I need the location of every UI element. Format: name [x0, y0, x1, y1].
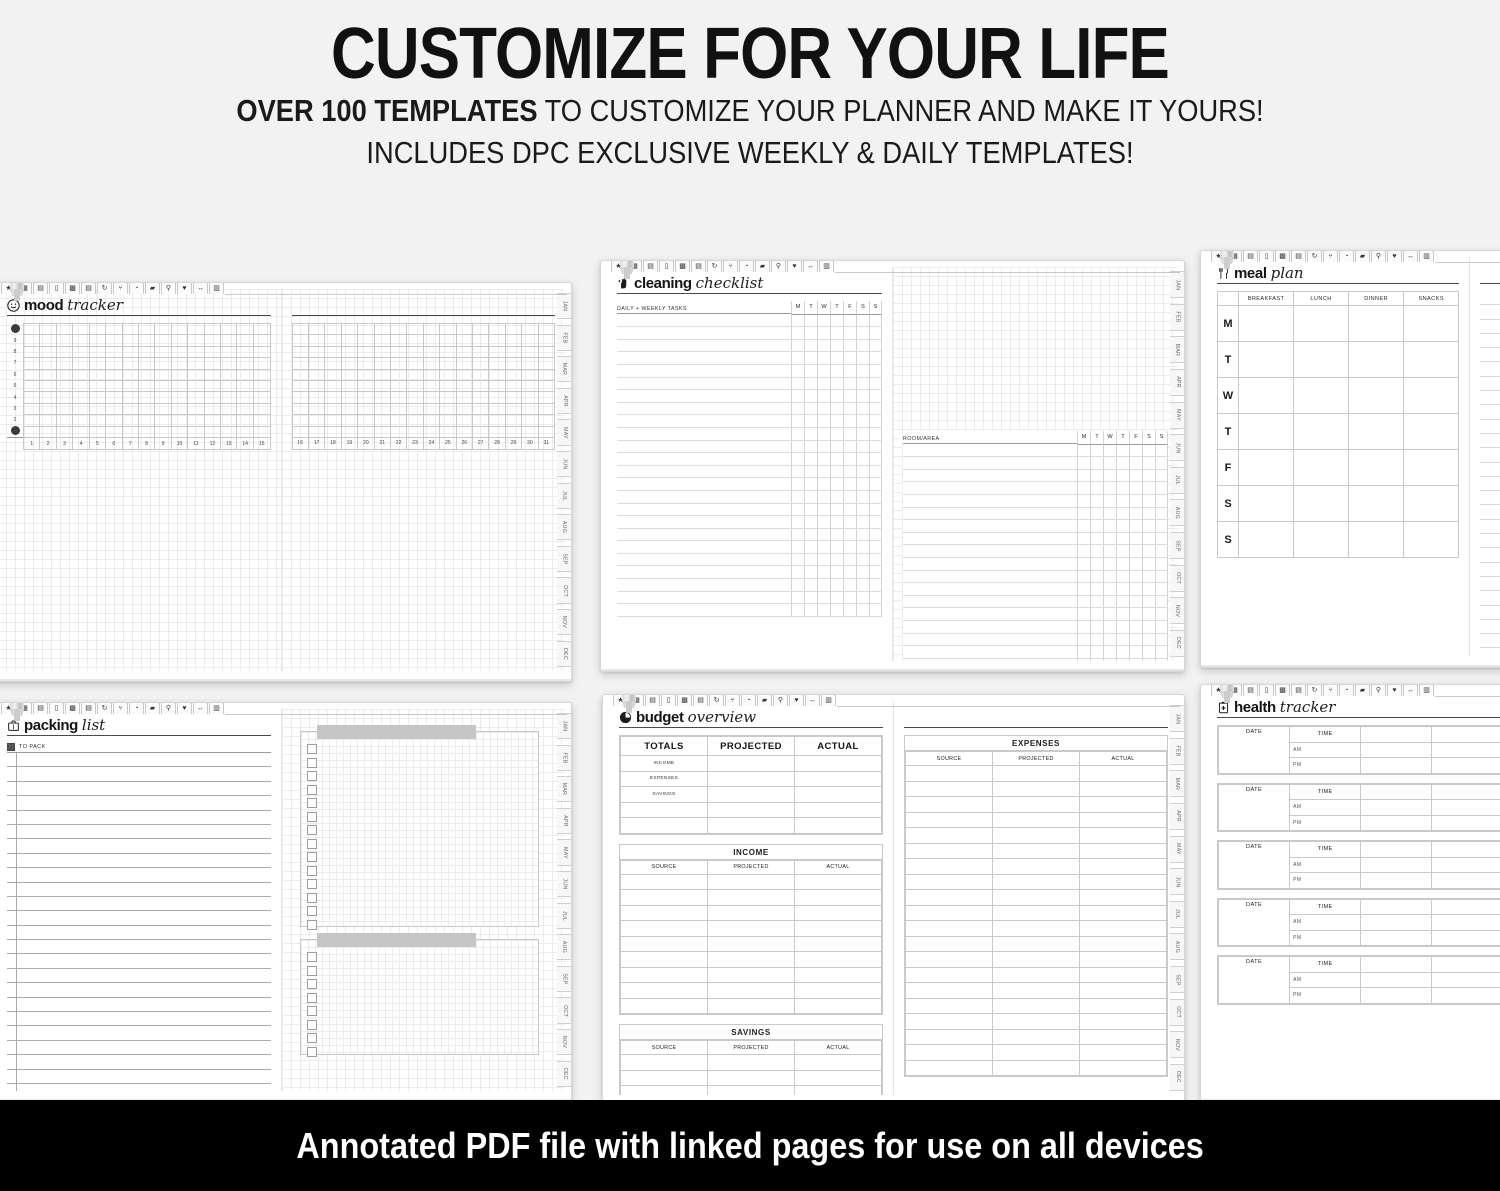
check-cell[interactable]	[791, 541, 804, 554]
table-row[interactable]	[617, 504, 882, 517]
arrows-icon[interactable]: ↔	[803, 260, 818, 272]
table-row[interactable]	[906, 936, 1167, 952]
cell-projected[interactable]	[993, 812, 1080, 828]
check-cell[interactable]	[1116, 533, 1129, 546]
note-line[interactable]	[1480, 391, 1500, 405]
check-cell[interactable]	[804, 441, 817, 454]
utensils-icon[interactable]: ⑂	[1323, 684, 1338, 696]
check-cell[interactable]	[1077, 558, 1090, 571]
check-cell[interactable]	[1103, 571, 1116, 584]
check-cell[interactable]	[1142, 608, 1155, 621]
check-cell[interactable]	[1155, 545, 1168, 558]
check-cell[interactable]	[856, 327, 869, 340]
table-row[interactable]	[617, 516, 882, 529]
pin-icon[interactable]: ⚲	[773, 694, 788, 706]
check-cell[interactable]	[1116, 545, 1129, 558]
cell[interactable]	[1361, 800, 1432, 816]
check-cell[interactable]	[1155, 495, 1168, 508]
table-row[interactable]	[617, 415, 882, 428]
month-tab-dec[interactable]: DEC	[557, 641, 572, 667]
check-cell[interactable]	[1077, 470, 1090, 483]
cell-source[interactable]	[906, 936, 993, 952]
task-line[interactable]	[617, 516, 791, 529]
check-cell[interactable]	[817, 592, 830, 605]
cell-projected[interactable]	[993, 998, 1080, 1014]
cell-actual[interactable]	[795, 890, 882, 906]
arrows-icon[interactable]: ↔	[193, 282, 208, 294]
planner-meal-plan[interactable]: ★ ▦ ▤ ▯ ▩ ▤ ↻ ⑂ ◔ ▰ ⚲ ♥ ↔ ▥	[1200, 250, 1500, 668]
check-cell[interactable]	[791, 554, 804, 567]
check-cell[interactable]	[804, 378, 817, 391]
list-item[interactable]	[7, 1070, 271, 1084]
check-cell[interactable]	[1116, 659, 1129, 661]
table-icon[interactable]: ▤	[1291, 684, 1306, 696]
table-row[interactable]	[906, 905, 1167, 921]
check-cell[interactable]	[1103, 634, 1116, 647]
check-cell[interactable]	[1129, 495, 1142, 508]
task-line[interactable]	[903, 482, 1077, 495]
check-cell[interactable]	[804, 529, 817, 542]
check-cell[interactable]	[1142, 520, 1155, 533]
month-tab-jun[interactable]: JUN	[557, 451, 572, 477]
list-item[interactable]	[7, 1084, 271, 1091]
check-cell[interactable]	[856, 541, 869, 554]
cell-projected[interactable]	[708, 1070, 795, 1086]
check-cell[interactable]	[817, 478, 830, 491]
checkbox[interactable]	[307, 771, 317, 781]
task-line[interactable]	[617, 327, 791, 340]
cell-projected[interactable]	[993, 797, 1080, 813]
grid-icon[interactable]: ▩	[677, 694, 692, 706]
clock-icon[interactable]: ◔	[1339, 250, 1354, 262]
month-tab-may[interactable]: MAY	[1170, 402, 1185, 429]
check-cell[interactable]	[817, 378, 830, 391]
check-cell[interactable]	[817, 441, 830, 454]
cell-projected[interactable]	[708, 921, 795, 937]
cell-projected[interactable]	[708, 936, 795, 952]
task-line[interactable]	[617, 541, 791, 554]
task-line[interactable]	[903, 545, 1077, 558]
cell-projected[interactable]	[993, 983, 1080, 999]
check-cell[interactable]	[1090, 508, 1103, 521]
month-tab-jan[interactable]: JAN	[1170, 705, 1185, 732]
table-row[interactable]	[906, 921, 1167, 937]
check-cell[interactable]	[817, 428, 830, 441]
clock-icon[interactable]: ◔	[1339, 684, 1354, 696]
packing-box-1[interactable]	[300, 731, 540, 927]
table-row[interactable]	[617, 554, 882, 567]
check-cell[interactable]	[1116, 646, 1129, 659]
col-blank-2[interactable]	[1432, 727, 1500, 743]
month-tab-oct[interactable]: OCT	[557, 577, 572, 603]
check-cell[interactable]	[856, 340, 869, 353]
table-row[interactable]	[906, 843, 1167, 859]
check-cell[interactable]	[1077, 495, 1090, 508]
table-row[interactable]	[903, 583, 1168, 596]
heart-icon[interactable]: ♥	[177, 702, 192, 714]
check-cell[interactable]	[830, 566, 843, 579]
month-tab-aug[interactable]: AUG	[1170, 499, 1185, 526]
check-cell[interactable]	[817, 466, 830, 479]
check-cell[interactable]	[1116, 621, 1129, 634]
table-icon[interactable]: ▤	[691, 260, 706, 272]
list-item[interactable]	[7, 782, 271, 796]
cell-source[interactable]	[906, 1029, 993, 1045]
check-cell[interactable]	[856, 428, 869, 441]
note-line[interactable]	[1480, 362, 1500, 376]
month-tab-sep[interactable]: SEP	[557, 546, 572, 572]
table-row[interactable]	[906, 781, 1167, 797]
list-icon[interactable]: ▤	[1243, 250, 1258, 262]
cell-actual[interactable]	[1080, 766, 1167, 782]
table-row[interactable]	[621, 890, 882, 906]
list-item[interactable]	[7, 969, 271, 983]
check-cell[interactable]	[1090, 445, 1103, 458]
checkbox[interactable]	[307, 825, 317, 835]
month-tab-apr[interactable]: APR	[557, 808, 572, 834]
month-tab-feb[interactable]: FEB	[1170, 738, 1185, 765]
check-cell[interactable]	[856, 529, 869, 542]
table-row[interactable]	[906, 983, 1167, 999]
task-line[interactable]	[617, 340, 791, 353]
check-cell[interactable]	[1103, 621, 1116, 634]
table-row[interactable]	[621, 921, 882, 937]
task-line[interactable]	[617, 441, 791, 454]
month-tab-oct[interactable]: OCT	[557, 997, 572, 1023]
table-row[interactable]	[617, 315, 882, 328]
month-tab-mar[interactable]: MAR	[1170, 336, 1185, 363]
check-cell[interactable]	[856, 315, 869, 328]
table-row[interactable]	[617, 466, 882, 479]
col-date[interactable]: DATE	[1219, 784, 1290, 831]
task-line[interactable]	[617, 529, 791, 542]
month-tab-aug[interactable]: AUG	[557, 934, 572, 960]
health-entry-table[interactable]: DATETIMENOTESAMPM	[1218, 841, 1500, 889]
month-tab-may[interactable]: MAY	[1170, 836, 1185, 863]
table-row[interactable]	[903, 482, 1168, 495]
check-cell[interactable]	[1116, 596, 1129, 609]
check-cell[interactable]	[817, 365, 830, 378]
task-line[interactable]	[617, 579, 791, 592]
cell-actual[interactable]	[795, 952, 882, 968]
cell-actual[interactable]	[1080, 936, 1167, 952]
refresh-icon[interactable]: ↻	[707, 260, 722, 272]
folder-icon[interactable]: ▰	[1355, 250, 1370, 262]
check-cell[interactable]	[856, 441, 869, 454]
cell-projected[interactable]	[708, 905, 795, 921]
cell-projected[interactable]	[993, 936, 1080, 952]
table-row[interactable]	[617, 365, 882, 378]
cell-source[interactable]	[906, 905, 993, 921]
bookmark-icon[interactable]: ▯	[49, 282, 64, 294]
check-cell[interactable]	[1142, 545, 1155, 558]
task-line[interactable]	[903, 508, 1077, 521]
check-cell[interactable]	[830, 554, 843, 567]
cell[interactable]	[1432, 873, 1500, 889]
check-cell[interactable]	[1155, 508, 1168, 521]
folder-icon[interactable]: ▰	[757, 694, 772, 706]
check-cell[interactable]	[1077, 533, 1090, 546]
checkbox-column[interactable]	[301, 732, 539, 938]
check-cell[interactable]	[843, 327, 856, 340]
check-cell[interactable]	[791, 390, 804, 403]
list-icon[interactable]: ▤	[643, 260, 658, 272]
check-cell[interactable]	[856, 403, 869, 416]
check-cell[interactable]	[1077, 457, 1090, 470]
list-item[interactable]	[7, 1055, 271, 1069]
check-cell[interactable]	[1129, 583, 1142, 596]
check-cell[interactable]	[1155, 457, 1168, 470]
check-cell[interactable]	[830, 504, 843, 517]
cell-source[interactable]	[621, 921, 708, 937]
table-row[interactable]	[617, 390, 882, 403]
check-cell[interactable]	[1103, 545, 1116, 558]
grid-icon[interactable]: ▩	[1275, 684, 1290, 696]
check-cell[interactable]	[1090, 457, 1103, 470]
clock-icon[interactable]: ◔	[741, 694, 756, 706]
check-cell[interactable]	[856, 352, 869, 365]
check-cell[interactable]	[804, 478, 817, 491]
table-row[interactable]	[621, 905, 882, 921]
table-icon[interactable]: ▤	[81, 282, 96, 294]
cell-projected[interactable]	[708, 998, 795, 1014]
bookmark-icon[interactable]: ▯	[659, 260, 674, 272]
checkbox[interactable]	[307, 920, 317, 930]
month-tab-feb[interactable]: FEB	[1170, 304, 1185, 331]
check-cell[interactable]	[830, 428, 843, 441]
check-cell[interactable]	[830, 516, 843, 529]
list-item[interactable]	[7, 954, 271, 968]
table-row[interactable]	[903, 621, 1168, 634]
check-cell[interactable]	[817, 340, 830, 353]
cell-source[interactable]	[621, 1055, 708, 1071]
task-line[interactable]	[903, 558, 1077, 571]
check-cell[interactable]	[856, 604, 869, 617]
cell-source[interactable]	[906, 890, 993, 906]
note-line[interactable]	[1480, 620, 1500, 634]
note-line[interactable]	[1480, 348, 1500, 362]
check-cell[interactable]	[1116, 608, 1129, 621]
note-line[interactable]	[1480, 420, 1500, 434]
check-cell[interactable]	[830, 327, 843, 340]
check-cell[interactable]	[830, 466, 843, 479]
check-cell[interactable]	[804, 403, 817, 416]
cell-source[interactable]	[621, 998, 708, 1014]
check-cell[interactable]	[791, 516, 804, 529]
check-cell[interactable]	[856, 491, 869, 504]
cell-source[interactable]	[621, 1086, 708, 1096]
table-row[interactable]	[621, 983, 882, 999]
list-item[interactable]	[7, 983, 271, 997]
check-cell[interactable]	[804, 428, 817, 441]
month-tab-mar[interactable]: MAR	[557, 776, 572, 802]
check-cell[interactable]	[843, 516, 856, 529]
month-tab-mar[interactable]: MAR	[557, 356, 572, 382]
check-cell[interactable]	[1155, 608, 1168, 621]
list-item[interactable]	[7, 854, 271, 868]
table-row[interactable]	[617, 566, 882, 579]
savings-table[interactable]: SOURCE PROJECTED ACTUAL	[620, 1040, 882, 1095]
table-row[interactable]	[617, 378, 882, 391]
list-item[interactable]	[7, 1041, 271, 1055]
check-cell[interactable]	[1077, 634, 1090, 647]
check-cell[interactable]	[804, 491, 817, 504]
pin-icon[interactable]: ⚲	[161, 702, 176, 714]
month-tabs[interactable]: JAN FEB MAR APR MAY JUN JUL AUG SEP OCT …	[557, 713, 572, 1087]
check-cell[interactable]	[830, 365, 843, 378]
check-cell[interactable]	[1103, 445, 1116, 458]
budget-totals-section[interactable]: TOTALS PROJECTED ACTUAL INCOME EXPENSES …	[619, 735, 883, 835]
table-icon[interactable]: ▤	[693, 694, 708, 706]
cell-actual[interactable]	[1080, 828, 1167, 844]
check-cell[interactable]	[791, 566, 804, 579]
check-cell[interactable]	[1077, 571, 1090, 584]
table-row[interactable]	[617, 529, 882, 542]
cell-projected[interactable]	[708, 983, 795, 999]
check-cell[interactable]	[1090, 495, 1103, 508]
check-cell[interactable]	[830, 579, 843, 592]
table-row[interactable]	[906, 1060, 1167, 1076]
cell-source[interactable]	[906, 812, 993, 828]
cell-source[interactable]	[906, 874, 993, 890]
cell-source[interactable]	[906, 797, 993, 813]
task-line[interactable]	[903, 533, 1077, 546]
check-cell[interactable]	[1155, 596, 1168, 609]
check-cell[interactable]	[1129, 659, 1142, 661]
utensils-icon[interactable]: ⑂	[725, 694, 740, 706]
health-entry-section[interactable]: DATETIMENOTESAMPM	[1217, 783, 1500, 833]
task-line[interactable]	[617, 604, 791, 617]
cell[interactable]	[1432, 758, 1500, 774]
book-icon[interactable]: ▥	[821, 694, 836, 706]
check-cell[interactable]	[1077, 508, 1090, 521]
arrows-icon[interactable]: ↔	[193, 702, 208, 714]
check-cell[interactable]	[1142, 583, 1155, 596]
task-line[interactable]	[617, 466, 791, 479]
col-blank-2[interactable]	[1432, 957, 1500, 973]
health-sections[interactable]: DATETIMENOTESAMPMDATETIMENOTESAMPMDATETI…	[1217, 725, 1500, 1005]
task-line[interactable]	[617, 378, 791, 391]
check-cell[interactable]	[869, 554, 882, 567]
checkbox[interactable]	[307, 906, 317, 916]
table-row[interactable]	[617, 604, 882, 617]
check-cell[interactable]	[791, 579, 804, 592]
cell[interactable]	[1361, 972, 1432, 988]
check-cell[interactable]	[856, 378, 869, 391]
check-cell[interactable]	[830, 478, 843, 491]
clock-icon[interactable]: ◔	[739, 260, 754, 272]
check-cell[interactable]	[804, 315, 817, 328]
cell-projected[interactable]	[993, 828, 1080, 844]
check-cell[interactable]	[869, 403, 882, 416]
check-cell[interactable]	[1142, 457, 1155, 470]
check-cell[interactable]	[804, 390, 817, 403]
table-row[interactable]	[621, 1070, 882, 1086]
check-cell[interactable]	[843, 554, 856, 567]
month-tab-aug[interactable]: AUG	[557, 514, 572, 540]
check-cell[interactable]	[791, 441, 804, 454]
check-cell[interactable]	[1142, 495, 1155, 508]
check-cell[interactable]	[830, 441, 843, 454]
check-cell[interactable]	[1103, 470, 1116, 483]
list-item[interactable]	[7, 940, 271, 954]
checkbox[interactable]	[307, 758, 317, 768]
month-tab-dec[interactable]: DEC	[557, 1061, 572, 1087]
task-line[interactable]	[617, 415, 791, 428]
check-cell[interactable]	[1090, 608, 1103, 621]
check-cell[interactable]	[830, 592, 843, 605]
check-cell[interactable]	[1090, 470, 1103, 483]
cell[interactable]	[1432, 742, 1500, 758]
check-cell[interactable]	[1142, 558, 1155, 571]
pin-icon[interactable]: ⚲	[771, 260, 786, 272]
check-cell[interactable]	[1077, 646, 1090, 659]
cleaning-task-table[interactable]: DAILY + WEEKLY TASKS M T W T F S S	[617, 301, 882, 617]
check-cell[interactable]	[869, 390, 882, 403]
cell[interactable]	[1432, 815, 1500, 831]
task-line[interactable]	[617, 403, 791, 416]
month-tab-jun[interactable]: JUN	[1170, 868, 1185, 895]
arrows-icon[interactable]: ↔	[805, 694, 820, 706]
table-row[interactable]	[906, 812, 1167, 828]
check-cell[interactable]	[804, 340, 817, 353]
table-row[interactable]	[903, 495, 1168, 508]
month-tab-mar[interactable]: MAR	[1170, 770, 1185, 797]
checkbox[interactable]	[307, 866, 317, 876]
check-cell[interactable]	[1116, 634, 1129, 647]
planner-packing-list[interactable]: ★ ▦ ▤ ▯ ▩ ▤ ↻ ⑂ ◔ ▰ ⚲ ♥ ↔ ▥ JAN FEB MAR …	[0, 702, 572, 1102]
pin-icon[interactable]: ⚲	[1371, 684, 1386, 696]
arrows-icon[interactable]: ↔	[1403, 684, 1418, 696]
note-line[interactable]	[1480, 606, 1500, 620]
month-tab-jul[interactable]: JUL	[1170, 467, 1185, 494]
cell-actual[interactable]	[1080, 1014, 1167, 1030]
cell-actual[interactable]	[795, 905, 882, 921]
table-row[interactable]	[617, 428, 882, 441]
check-cell[interactable]	[1142, 646, 1155, 659]
table-row[interactable]	[617, 327, 882, 340]
task-line[interactable]	[903, 470, 1077, 483]
month-tab-dec[interactable]: DEC	[1170, 630, 1185, 657]
cell-projected[interactable]	[708, 967, 795, 983]
check-cell[interactable]	[817, 566, 830, 579]
budget-savings-section[interactable]: SAVINGS SOURCE PROJECTED ACTUAL	[619, 1024, 883, 1095]
task-line[interactable]	[617, 491, 791, 504]
table-row[interactable]	[621, 998, 882, 1014]
month-tab-dec[interactable]: DEC	[1170, 1064, 1185, 1091]
check-cell[interactable]	[817, 529, 830, 542]
month-tabs[interactable]: JAN FEB MAR APR MAY JUN JUL AUG SEP OCT …	[1170, 705, 1185, 1091]
check-cell[interactable]	[1116, 482, 1129, 495]
checkbox[interactable]	[307, 1006, 317, 1016]
cell-actual[interactable]	[1080, 1060, 1167, 1076]
month-tab-oct[interactable]: OCT	[1170, 565, 1185, 592]
check-cell[interactable]	[1129, 457, 1142, 470]
cell-source[interactable]	[621, 952, 708, 968]
check-cell[interactable]	[843, 428, 856, 441]
check-cell[interactable]	[1116, 558, 1129, 571]
grid-icon[interactable]: ▩	[65, 282, 80, 294]
checkbox[interactable]	[307, 1020, 317, 1030]
checkbox-column[interactable]	[301, 940, 539, 1065]
check-cell[interactable]	[817, 579, 830, 592]
table-row[interactable]	[903, 571, 1168, 584]
check-cell[interactable]	[1142, 571, 1155, 584]
check-cell[interactable]	[817, 390, 830, 403]
task-line[interactable]	[903, 495, 1077, 508]
task-line[interactable]	[903, 571, 1077, 584]
check-cell[interactable]	[869, 566, 882, 579]
